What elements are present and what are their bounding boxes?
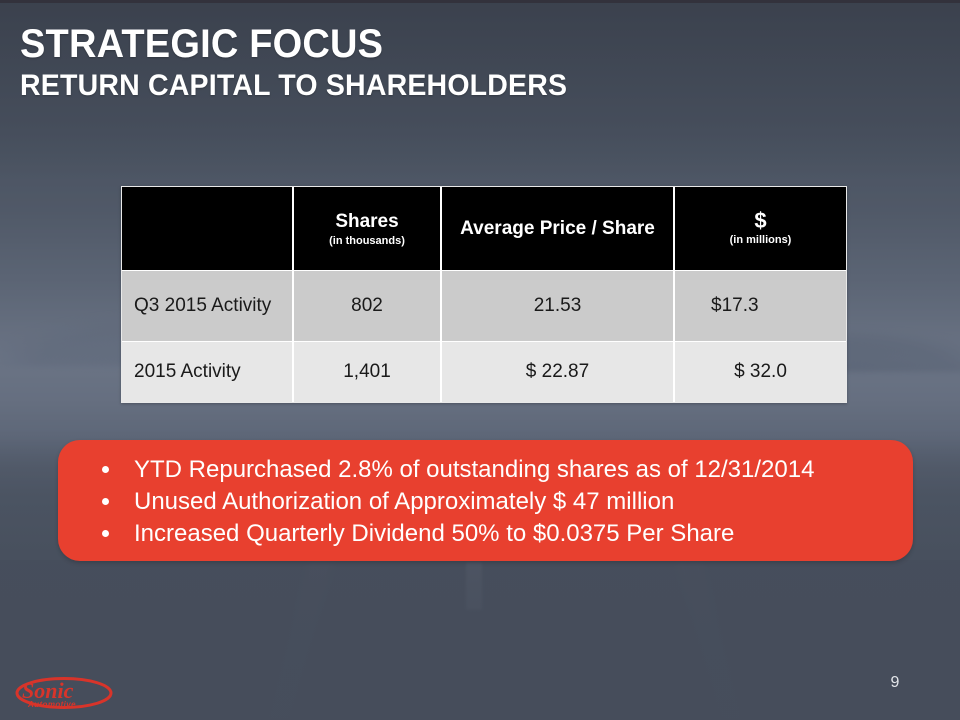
column-header-dollars: $ (in millions) bbox=[674, 187, 846, 271]
column-header-shares: Shares (in thousands) bbox=[293, 187, 441, 271]
sonic-logo-icon: Sonic Automotive bbox=[14, 672, 124, 712]
list-item: YTD Repurchased 2.8% of outstanding shar… bbox=[88, 454, 889, 486]
page-title: STRATEGIC FOCUS bbox=[20, 22, 875, 66]
row-label-2015: 2015 Activity bbox=[122, 342, 293, 403]
bullet-icon bbox=[102, 498, 109, 505]
svg-text:Automotive: Automotive bbox=[27, 700, 76, 709]
cell-avg-price-q3-2015: 21.53 bbox=[441, 271, 674, 342]
column-header-average-price-share: Average Price / Share bbox=[441, 187, 674, 271]
list-item: Increased Quarterly Dividend 50% to $0.0… bbox=[88, 518, 889, 550]
highlights-callout: YTD Repurchased 2.8% of outstanding shar… bbox=[58, 440, 913, 561]
share-repurchase-table: Shares (in thousands) Average Price / Sh… bbox=[121, 186, 847, 403]
bullet-text: Unused Authorization of Approximately $ … bbox=[134, 488, 674, 515]
cell-avg-price-2015: $ 22.87 bbox=[441, 342, 674, 403]
bullet-text: YTD Repurchased 2.8% of outstanding shar… bbox=[134, 456, 814, 483]
background-bottom-band bbox=[0, 560, 960, 720]
highlights-list: YTD Repurchased 2.8% of outstanding shar… bbox=[88, 454, 889, 550]
cell-dollars-2015: $ 32.0 bbox=[674, 342, 846, 403]
sonic-automotive-logo: Sonic Automotive bbox=[14, 672, 124, 712]
table-row: 2015 Activity 1,401 $ 22.87 $ 32.0 bbox=[122, 342, 846, 403]
slide-canvas: STRATEGIC FOCUS RETURN CAPITAL TO SHAREH… bbox=[0, 0, 960, 720]
column-header-blank bbox=[122, 187, 293, 271]
table-header-row: Shares (in thousands) Average Price / Sh… bbox=[122, 187, 846, 271]
page-number: 9 bbox=[880, 673, 910, 693]
slide-top-rule bbox=[0, 0, 960, 3]
row-label-q3-2015: Q3 2015 Activity bbox=[122, 271, 293, 342]
cell-shares-2015: 1,401 bbox=[293, 342, 441, 403]
page-subtitle: RETURN CAPITAL TO SHAREHOLDERS bbox=[20, 68, 875, 104]
bullet-text: Increased Quarterly Dividend 50% to $0.0… bbox=[134, 520, 734, 547]
cell-dollars-q3-2015: $17.3 bbox=[674, 271, 846, 342]
title-block: STRATEGIC FOCUS RETURN CAPITAL TO SHAREH… bbox=[20, 22, 920, 104]
table-row: Q3 2015 Activity 802 21.53 $17.3 bbox=[122, 271, 846, 342]
bullet-icon bbox=[102, 466, 109, 473]
list-item: Unused Authorization of Approximately $ … bbox=[88, 486, 889, 518]
cell-shares-q3-2015: 802 bbox=[293, 271, 441, 342]
bullet-icon bbox=[102, 530, 109, 537]
